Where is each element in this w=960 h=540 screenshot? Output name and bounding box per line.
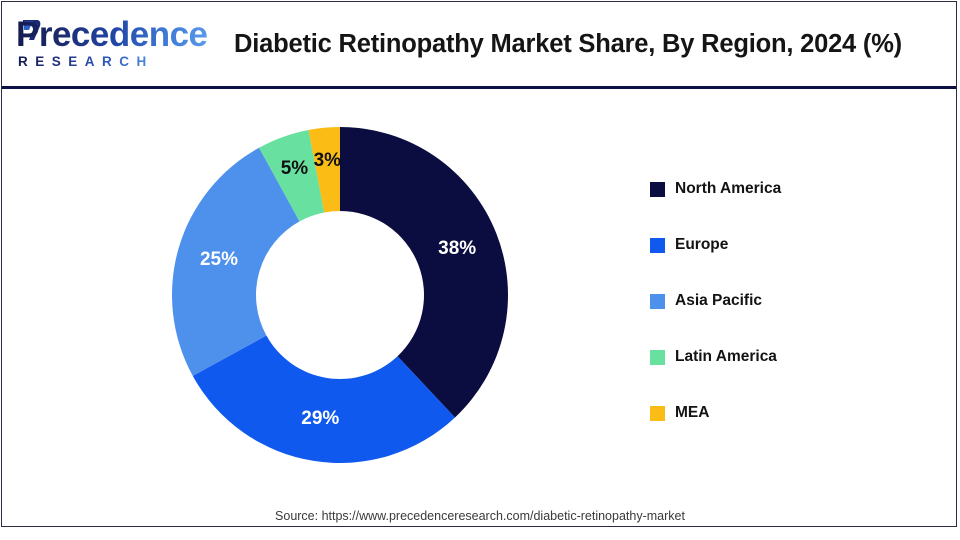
legend-item[interactable]: Asia Pacific bbox=[650, 273, 910, 329]
slice-value-label: 29% bbox=[301, 408, 339, 430]
legend-label: Latin America bbox=[675, 348, 777, 366]
chart-header: Precedence RESEARCH Diabetic Retinopathy… bbox=[2, 2, 956, 86]
donut-chart: 38%29%25%5%3% bbox=[172, 127, 508, 463]
legend-item[interactable]: Latin America bbox=[650, 329, 910, 385]
legend-label: Asia Pacific bbox=[675, 292, 762, 310]
slice-value-label: 5% bbox=[281, 158, 308, 180]
legend-label: MEA bbox=[675, 404, 709, 422]
legend-label: North America bbox=[675, 180, 781, 198]
chart-card: Precedence RESEARCH Diabetic Retinopathy… bbox=[1, 1, 957, 527]
donut-slice[interactable] bbox=[340, 127, 508, 417]
slice-value-label: 38% bbox=[438, 238, 476, 260]
legend-item[interactable]: North America bbox=[650, 161, 910, 217]
slice-value-label: 3% bbox=[314, 150, 341, 172]
legend-swatch-icon bbox=[650, 350, 665, 365]
precedence-research-logo: Precedence RESEARCH bbox=[14, 16, 174, 74]
chart-title: Diabetic Retinopathy Market Share, By Re… bbox=[188, 2, 948, 86]
legend-swatch-icon bbox=[650, 238, 665, 253]
legend-item[interactable]: Europe bbox=[650, 217, 910, 273]
slice-value-label: 25% bbox=[200, 249, 238, 271]
logo-wordmark: Precedence bbox=[16, 16, 208, 54]
logo-subtext: RESEARCH bbox=[18, 54, 154, 70]
source-caption: Source: https://www.precedenceresearch.c… bbox=[2, 509, 958, 523]
legend-swatch-icon bbox=[650, 182, 665, 197]
donut-svg bbox=[172, 127, 508, 463]
legend-swatch-icon bbox=[650, 294, 665, 309]
chart-legend: North AmericaEuropeAsia PacificLatin Ame… bbox=[650, 161, 910, 441]
chart-body: 38%29%25%5%3% North AmericaEuropeAsia Pa… bbox=[2, 89, 956, 527]
legend-item[interactable]: MEA bbox=[650, 385, 910, 441]
legend-swatch-icon bbox=[650, 406, 665, 421]
legend-label: Europe bbox=[675, 236, 728, 254]
